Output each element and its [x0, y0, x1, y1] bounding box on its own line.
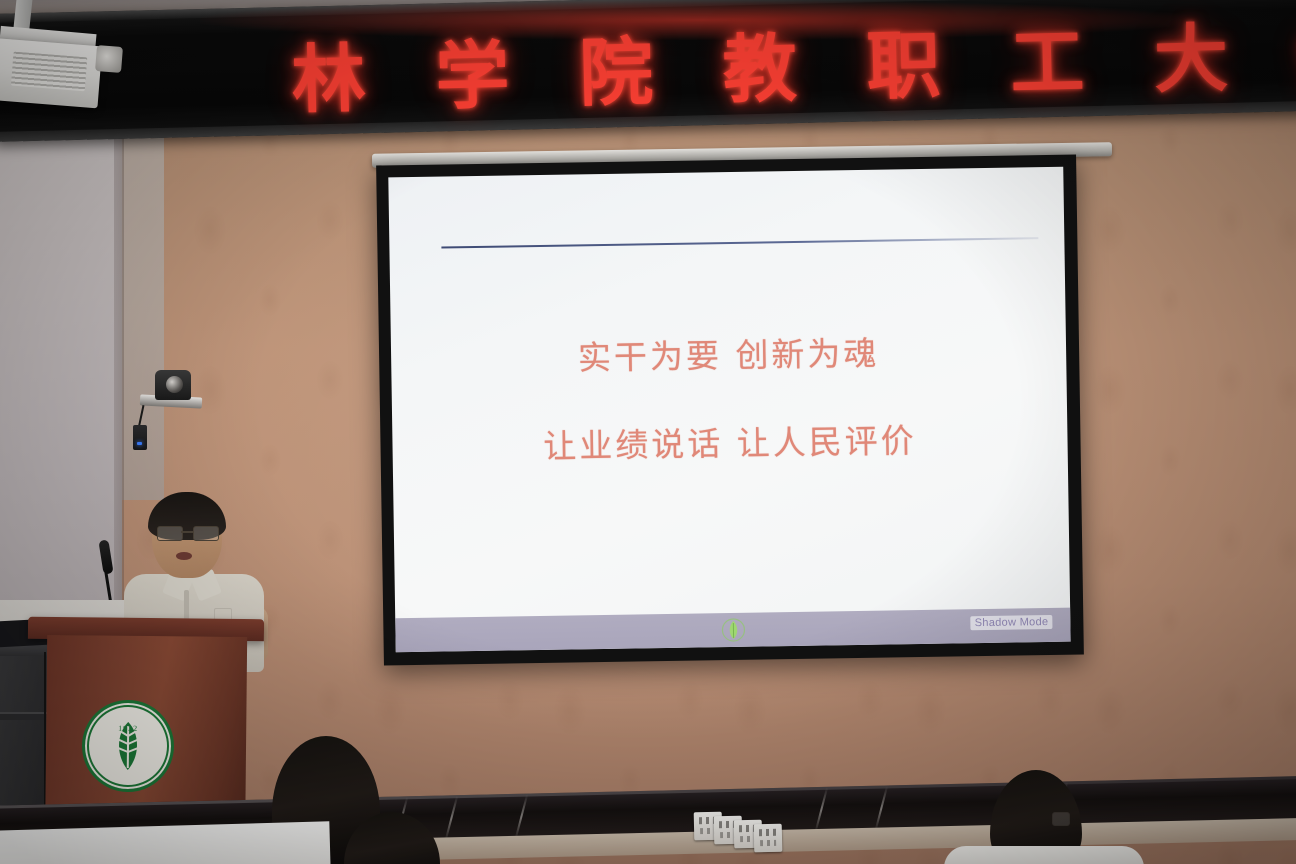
outlet-slots-bottom: [760, 840, 776, 846]
slide-line-1: 实干为要 创新为魂: [391, 307, 1067, 406]
green-leaf-logo-icon: [720, 617, 746, 643]
screen-surface: 实干为要 创新为魂 让业绩说话 让人民评价 Shadow Mode: [388, 167, 1070, 653]
marble-vein: [515, 794, 529, 839]
slide-divider-rule: [441, 237, 1038, 248]
conference-hall-photo: 林 学 院 教 职 工 大 会 实干为要 创新为魂 让业绩说话 让人民评价: [0, 0, 1296, 864]
university-emblem: 1932: [82, 700, 175, 793]
slide-body: 实干为要 创新为魂 让业绩说话 让人民评价: [391, 307, 1069, 494]
glasses-lens-right: [193, 526, 219, 541]
slide-footer-band: Shadow Mode: [395, 608, 1070, 653]
camera-power-adapter: [133, 425, 147, 450]
speaker-mouth: [176, 552, 192, 560]
projection-screen: 实干为要 创新为魂 让业绩说话 让人民评价 Shadow Mode: [376, 155, 1084, 666]
emblem-year: 1932: [112, 724, 144, 733]
slide-line-2: 让业绩说话 让人民评价: [392, 395, 1068, 494]
shadow-mode-watermark: Shadow Mode: [971, 615, 1053, 630]
marble-vein: [445, 796, 459, 841]
outlet-slots-top: [759, 829, 777, 836]
glasses-icon: [157, 526, 217, 539]
power-led-icon: [137, 442, 142, 445]
glasses-icon: [1052, 812, 1070, 826]
projector-lens: [95, 45, 123, 73]
camera-lens-icon: [166, 376, 183, 393]
glasses-lens-left: [157, 526, 183, 541]
audience-shoulders: [944, 846, 1144, 864]
projector-icon: [0, 38, 102, 109]
projector-vent: [11, 52, 87, 92]
marble-vein: [815, 787, 829, 832]
ptz-camera-icon: [155, 370, 191, 400]
marble-vein: [874, 786, 888, 831]
glasses-bridge: [181, 531, 193, 533]
wall-outlet[interactable]: [754, 824, 783, 853]
